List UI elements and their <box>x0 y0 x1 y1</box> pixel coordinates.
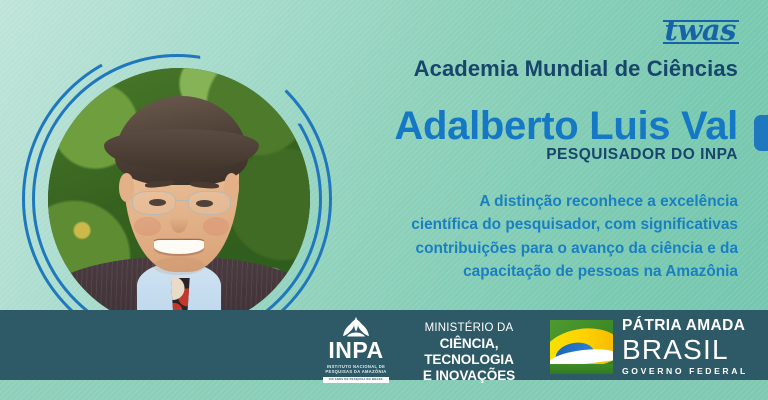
inpa-subtitle: INSTITUTO NACIONAL DE PESQUISAS DA AMAZÔ… <box>313 364 399 375</box>
photo-chin <box>153 257 205 275</box>
inpa-wordmark: INPA <box>313 339 399 362</box>
decorative-blue-tab <box>754 115 768 151</box>
inpa-subtitle-line-2: PESQUISAS DA AMAZÔNIA <box>313 369 399 374</box>
description-text: A distinção reconhece a excelência cient… <box>348 190 738 284</box>
page-title: Academia Mundial de Ciências <box>414 56 738 82</box>
government-line-1: PÁTRIA AMADA <box>622 318 748 334</box>
footer-bottom-strip <box>0 380 768 400</box>
twas-logo: twas <box>665 16 736 45</box>
main-content: twas Academia Mundial de Ciências Adalbe… <box>340 0 768 310</box>
government-logo: PÁTRIA AMADA BRASIL GOVERNO FEDERAL <box>550 318 748 375</box>
description-line-1: A distinção reconhece a excelência <box>348 190 738 213</box>
avatar <box>48 68 310 330</box>
photo-cheek-left <box>134 217 160 235</box>
lotus-icon <box>313 316 399 338</box>
description-line-2: científica do pesquisador, com significa… <box>348 213 738 236</box>
twas-logo-rule-top <box>663 20 739 22</box>
description-line-4: capacitação de pessoas na Amazônia <box>348 260 738 283</box>
government-wordmark: PÁTRIA AMADA BRASIL GOVERNO FEDERAL <box>622 318 748 375</box>
photo-smile <box>154 240 204 254</box>
brazil-flag-icon <box>550 320 613 374</box>
ministry-logo: MINISTÉRIO DA CIÊNCIA, TECNOLOGIA E INOV… <box>404 322 534 384</box>
footer-strip-texture <box>0 380 768 400</box>
flag-green-base <box>550 364 613 374</box>
inpa-logo: INPA INSTITUTO NACIONAL DE PESQUISAS DA … <box>313 316 399 383</box>
ministry-line-3: E INOVAÇÕES <box>404 368 534 384</box>
ministry-line-1: MINISTÉRIO DA <box>404 322 534 336</box>
description-line-3: contribuições para o avanço da ciência e… <box>348 237 738 260</box>
photo-cheek-right <box>203 217 229 235</box>
ministry-line-2: CIÊNCIA, TECNOLOGIA <box>404 336 534 368</box>
glasses-lens-left <box>132 191 176 215</box>
honoree-name: Adalberto Luis Val <box>394 104 738 149</box>
glasses-lens-right <box>188 191 232 215</box>
inpa-tagline: 100 ANOS DE PESQUISA NO BRASIL <box>323 377 389 382</box>
twas-logo-rule-bottom <box>663 42 739 44</box>
government-line-2: BRASIL <box>622 336 748 364</box>
glasses-bridge <box>176 200 188 202</box>
government-line-3: GOVERNO FEDERAL <box>622 367 748 376</box>
photo-nose <box>170 207 188 233</box>
honoree-role: PESQUISADOR DO INPA <box>546 146 738 164</box>
